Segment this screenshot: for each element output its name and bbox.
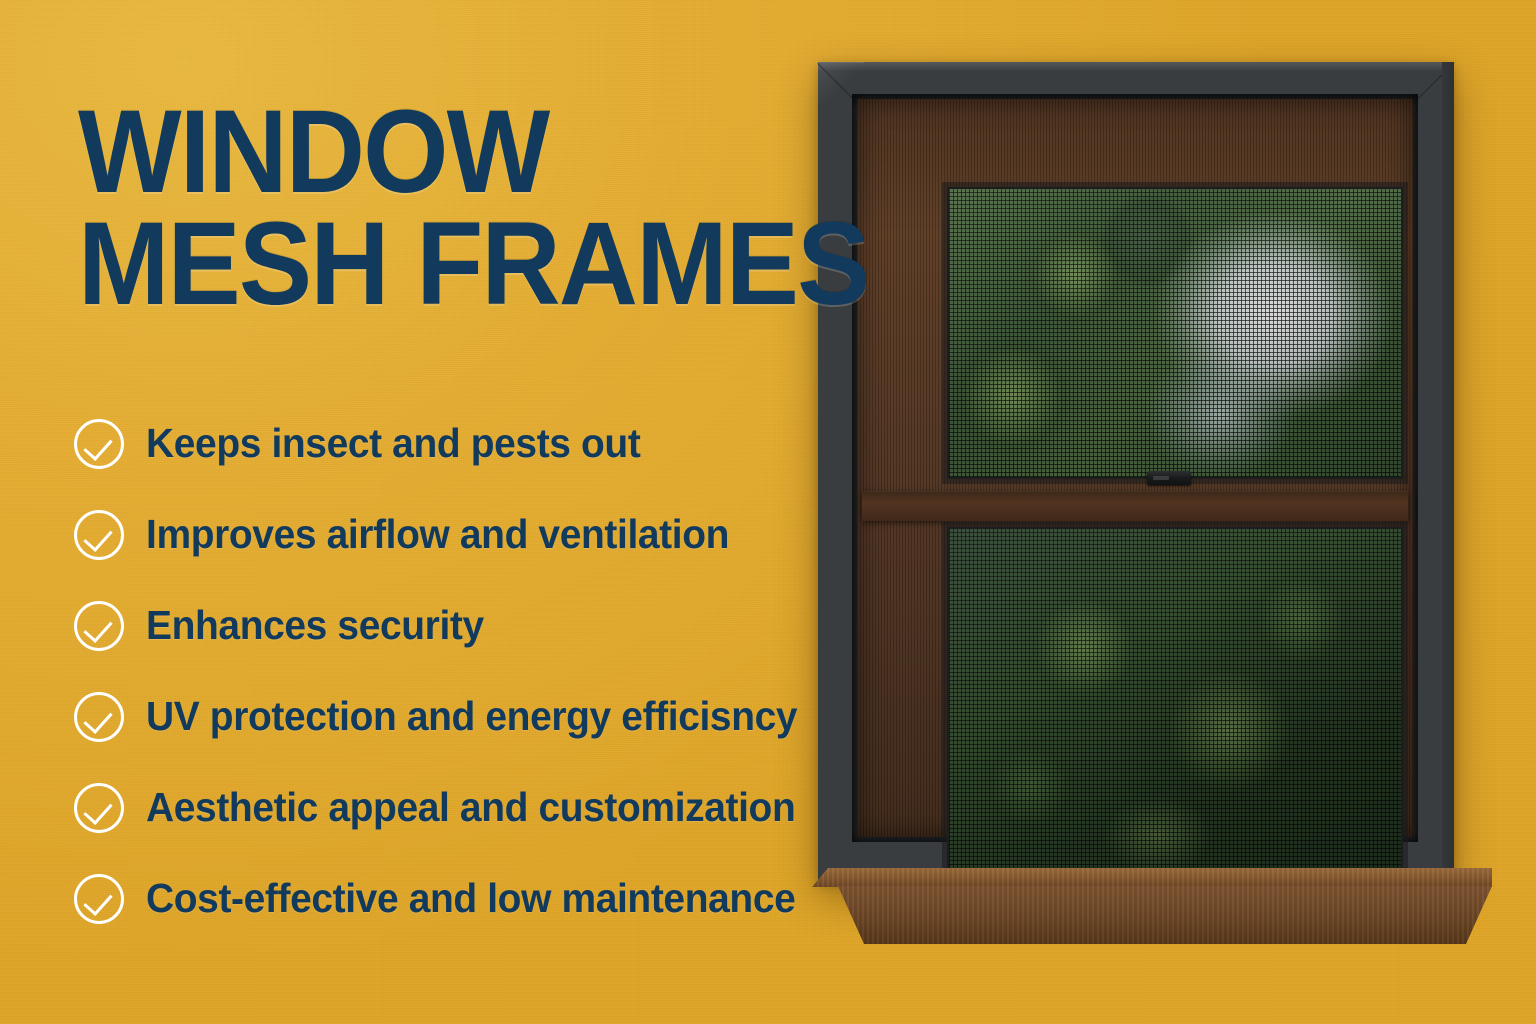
window-sill	[812, 868, 1492, 944]
benefit-label: Enhances security	[146, 602, 484, 649]
window-meeting-rail	[862, 491, 1408, 521]
window-image	[818, 62, 1454, 882]
window-latch	[1147, 471, 1191, 485]
lower-sash-mesh-screen	[947, 527, 1403, 879]
benefit-label: Aesthetic appeal and customization	[146, 784, 795, 831]
list-item: UV protection and energy efficisncy	[74, 671, 831, 762]
check-circle-icon	[74, 601, 124, 651]
benefit-label: Cost-effective and low maintenance	[146, 875, 795, 922]
window-frame-recess	[852, 94, 1418, 842]
window-sill-top	[812, 868, 1492, 887]
window-sill-apron	[812, 886, 1492, 944]
check-circle-icon	[74, 419, 124, 469]
list-item: Enhances security	[74, 580, 831, 671]
upper-sash-mesh-screen	[947, 187, 1403, 479]
benefit-label: UV protection and energy efficisncy	[146, 693, 797, 740]
window-outer-frame	[818, 62, 1454, 882]
benefit-label: Improves airflow and ventilation	[146, 511, 729, 558]
poster-canvas: WINDOW MESH FRAMES Keeps insect and pest…	[0, 0, 1536, 1024]
window-sash	[857, 99, 1413, 837]
headline-line-1: WINDOW	[78, 96, 868, 208]
list-item: Cost-effective and low maintenance	[74, 853, 831, 944]
benefit-list: Keeps insect and pests out Improves airf…	[74, 398, 831, 944]
list-item: Aesthetic appeal and customization	[74, 762, 831, 853]
check-circle-icon	[74, 510, 124, 560]
lower-pane-sheen	[949, 529, 1401, 877]
check-circle-icon	[74, 874, 124, 924]
headline-line-2: MESH FRAMES	[78, 208, 868, 320]
check-circle-icon	[74, 783, 124, 833]
list-item: Improves airflow and ventilation	[74, 489, 831, 580]
check-circle-icon	[74, 692, 124, 742]
upper-pane-sheen	[949, 189, 1401, 477]
list-item: Keeps insect and pests out	[74, 398, 831, 489]
page-title: WINDOW MESH FRAMES	[78, 96, 868, 320]
benefit-label: Keeps insect and pests out	[146, 420, 640, 467]
